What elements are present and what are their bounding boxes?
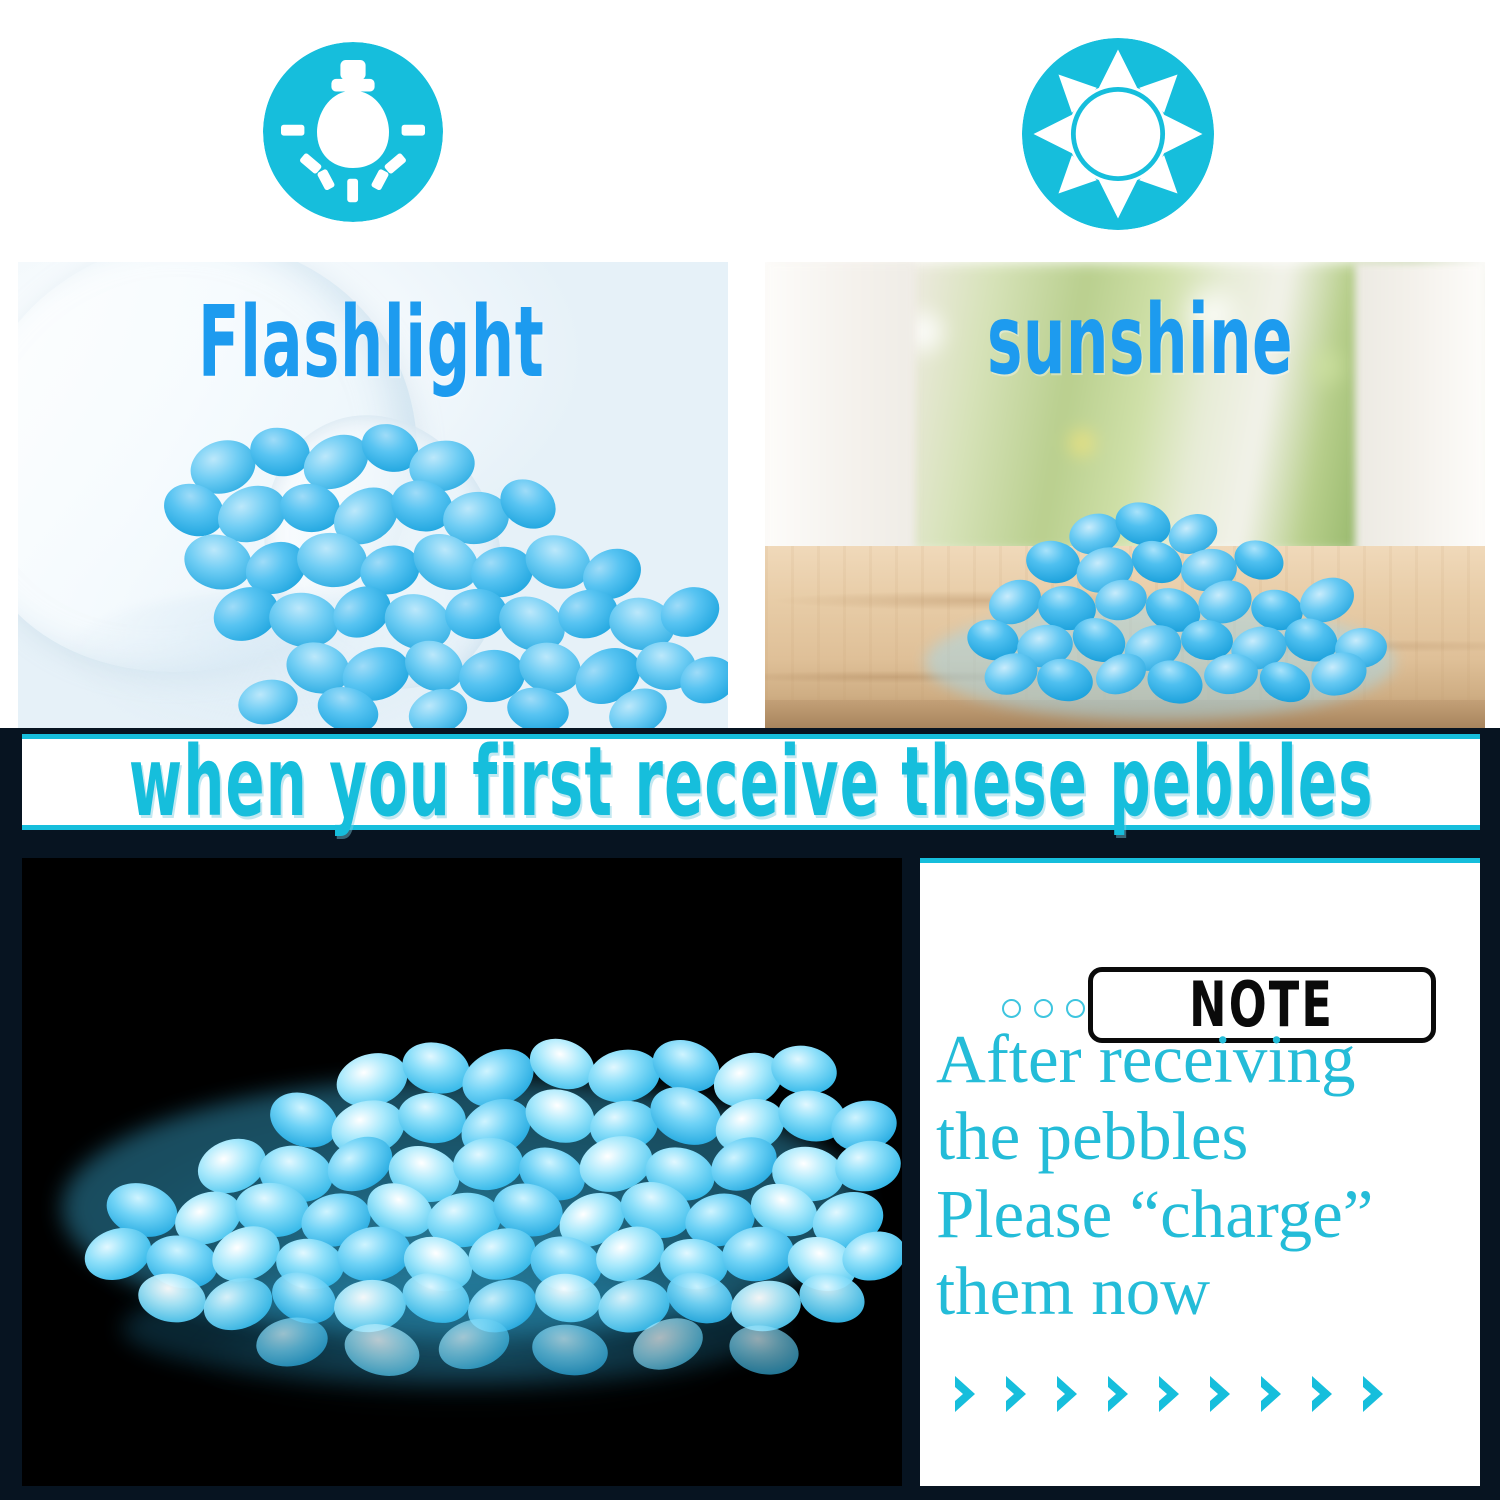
flashlight-photo: Flashlight [18,262,728,728]
chevron-right-icon [1103,1373,1133,1415]
note-line-1: After receiving [936,1021,1480,1098]
glowing-pebbles-graphic [22,858,902,1486]
sunshine-photo: sunshine [765,262,1485,728]
flashlight-bulb-icon [263,42,443,222]
infographic-page: Flashlight [0,0,1500,1500]
chevron-right-icon [1358,1373,1388,1415]
dot-icon [1002,999,1021,1018]
chevron-right-icon [1052,1373,1082,1415]
chevron-right-icon [1307,1373,1337,1415]
photo-label-sunshine: sunshine [987,284,1293,396]
chevron-right-icon [1001,1373,1031,1415]
note-body: After receiving the pebbles Please “char… [928,1021,1480,1330]
banner-text: when you first receive these pebbles [129,734,1374,830]
note-line-3: Please “charge” [936,1176,1480,1253]
chevron-row [950,1373,1470,1415]
banner: when you first receive these pebbles [22,734,1480,830]
sunshine-sun-icon [1022,38,1214,230]
dot-icon [1066,999,1085,1018]
chevron-right-icon [1154,1373,1184,1415]
note-header: NOTE [920,919,1480,997]
note-line-2: the pebbles [936,1098,1480,1175]
icon-row [0,0,1500,262]
chevron-right-icon [950,1373,980,1415]
note-panel: NOTE After receiving the pebbles Please … [920,858,1480,1486]
photo-label-flashlight: Flashlight [198,286,544,400]
chevron-right-icon [1205,1373,1235,1415]
photo-row: Flashlight [0,262,1500,728]
note-line-4: them now [936,1253,1480,1330]
dot-icon [1034,999,1053,1018]
note-dots [1002,999,1085,1018]
chevron-right-icon [1256,1373,1286,1415]
glow-in-dark-photo [22,858,902,1486]
